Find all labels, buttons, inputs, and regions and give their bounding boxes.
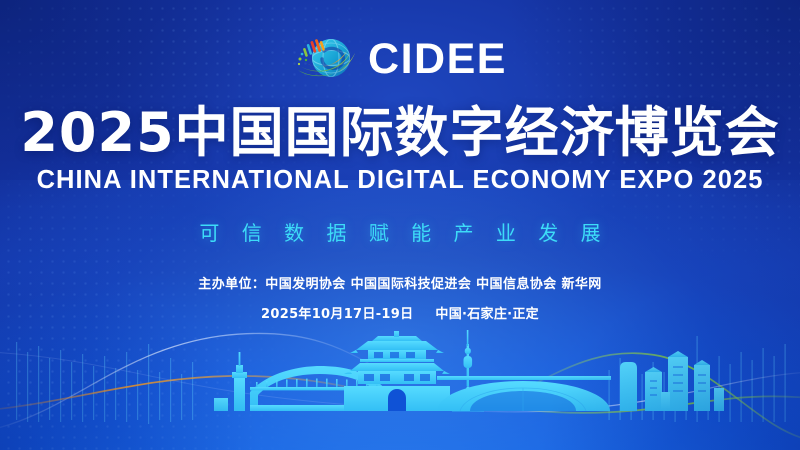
expo-poster: CIDEE 2025中国国际数字经济博览会 CHINA INTERNATIONA…: [0, 0, 800, 450]
logo-wordmark: CIDEE: [368, 38, 507, 81]
page-title-chinese: 2025中国国际数字经济博览会: [20, 105, 779, 160]
event-location: 中国·石家庄·正定: [435, 303, 539, 322]
event-slogan: 可 信 数 据 赋 能 产 业 发 展: [191, 217, 608, 246]
cidee-globe-swoosh-logo-icon: [293, 31, 359, 87]
brand-logo: CIDEE: [293, 30, 507, 88]
organizers-line: 主办单位：中国发明协会 中国国际科技促进会 中国信息协会 新华网: [198, 273, 601, 292]
page-title-english: CHINA INTERNATIONAL DIGITAL ECONOMY EXPO…: [37, 166, 764, 195]
date-location-bar: 2025年10月17日-19日 中国·石家庄·正定: [261, 303, 539, 322]
event-date: 2025年10月17日-19日: [261, 303, 413, 322]
